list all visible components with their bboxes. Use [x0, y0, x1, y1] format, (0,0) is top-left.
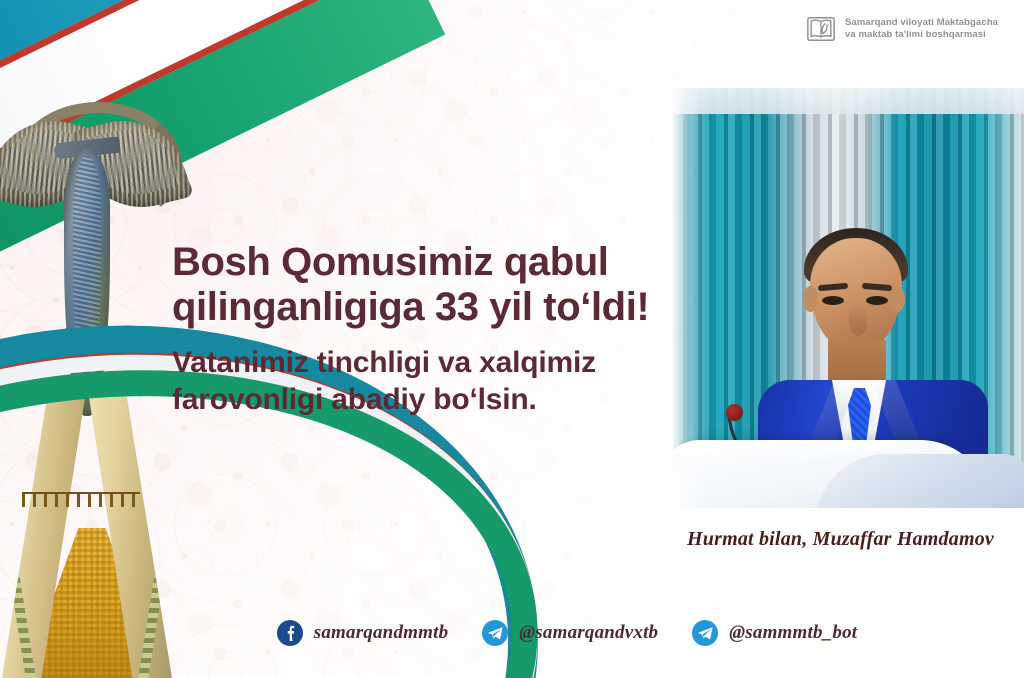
- telegram-bot-handle: @sammmtb_bot: [729, 622, 857, 644]
- speaker-ear-left: [803, 286, 818, 312]
- social-link-facebook[interactable]: samarqandmmtb: [277, 620, 449, 646]
- signature-text: Hurmat bilan, Muzaffar Hamdamov: [687, 528, 994, 551]
- speaker-ear-right: [890, 286, 905, 312]
- telegram-icon: [482, 620, 508, 646]
- facebook-icon: [277, 620, 303, 646]
- speaker-eye-left: [822, 296, 844, 305]
- social-link-telegram-channel[interactable]: @samarqandvxtb: [482, 620, 658, 646]
- message-block: Bosh Qomusimiz qabul qilinganligiga 33 y…: [172, 240, 732, 418]
- headline-text: Bosh Qomusimiz qabul qilinganligiga 33 y…: [172, 240, 732, 330]
- speaker-eye-right: [866, 296, 888, 305]
- poster-canvas: Samarqand viloyati Maktabgacha va maktab…: [0, 0, 1024, 678]
- speaker-nose: [849, 304, 867, 336]
- subheadline-text: Vatanimiz tinchligi va xalqimiz farovonl…: [172, 344, 732, 418]
- social-links-bar: samarqandmmtb @samarqandvxtb @sammmtb_bo…: [0, 620, 1024, 646]
- social-link-telegram-bot[interactable]: @sammmtb_bot: [692, 620, 857, 646]
- telegram-channel-handle: @samarqandvxtb: [519, 622, 658, 644]
- organization-logo: Samarqand viloyati Maktabgacha va maktab…: [806, 14, 998, 44]
- open-book-icon: [806, 14, 836, 44]
- telegram-icon: [692, 620, 718, 646]
- organization-name: Samarqand viloyati Maktabgacha va maktab…: [845, 17, 998, 41]
- facebook-handle: samarqandmmtb: [314, 622, 449, 644]
- ceiling-strip: [672, 88, 1024, 114]
